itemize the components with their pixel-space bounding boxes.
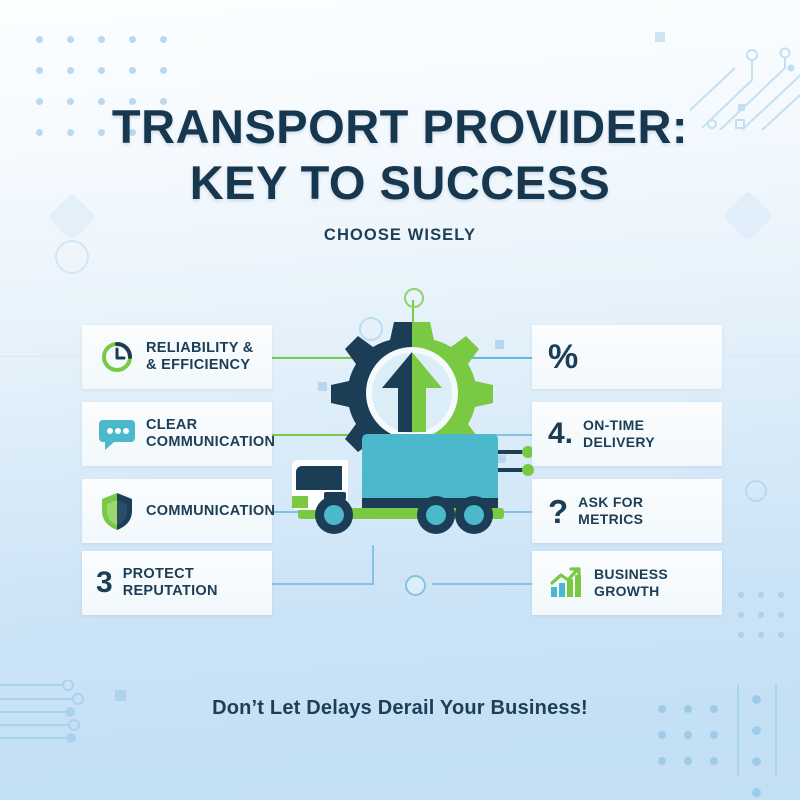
feature-card-on-time-delivery[interactable]: 4. ON-TIME DELIVERY xyxy=(532,402,722,466)
feature-card-ask-for-metrics[interactable]: ? ASK FOR METRICS xyxy=(532,479,722,543)
circle-accent-right xyxy=(745,480,767,502)
feature-card-reliability[interactable]: RELIABILITY & & EFFICIENCY xyxy=(82,325,272,389)
growth-chart-icon xyxy=(548,562,584,604)
square-accent-top-right xyxy=(655,32,665,42)
shield-icon xyxy=(96,490,138,532)
title-line-1: TRANSPORT PROVIDER: xyxy=(112,100,688,153)
feature-card-number: 3 xyxy=(96,568,113,598)
feature-card-business-growth[interactable]: BUSINESS GROWTH xyxy=(532,551,722,615)
feature-card-label: BUSINESS GROWTH xyxy=(594,566,710,600)
feature-card-percent[interactable]: % xyxy=(532,325,722,389)
feature-card-label: PROTECT REPUTATION xyxy=(123,566,262,600)
motion-node-lines xyxy=(498,446,534,476)
footer-tagline: Don’t Let Delays Derail Your Business! xyxy=(0,697,800,720)
feature-card-protect-reputation[interactable]: 3 PROTECT REPUTATION xyxy=(82,551,272,615)
feature-card-clear-communication[interactable]: CLEAR COMMUNICATION xyxy=(82,402,272,466)
chat-bubble-icon xyxy=(96,413,138,455)
feature-card-number: % xyxy=(548,340,578,374)
infographic-poster: TRANSPORT PROVIDER: KEY TO SUCCESS CHOOS… xyxy=(0,0,800,800)
dot-grid-bottom-right-upper xyxy=(738,592,784,638)
feature-card-label: COMMUNICATION xyxy=(146,503,275,520)
circle-accent-left xyxy=(55,240,89,274)
feature-card-label: RELIABILITY & & EFFICIENCY xyxy=(146,340,254,374)
feature-card-number: 4. xyxy=(548,419,573,449)
truck-icon xyxy=(292,434,504,534)
feature-card-label: ASK FOR METRICS xyxy=(578,494,710,528)
feature-card-label: ON-TIME DELIVERY xyxy=(583,417,710,451)
feature-card-label: CLEAR COMMUNICATION xyxy=(146,417,275,451)
title-line-2: KEY TO SUCCESS xyxy=(0,155,800,211)
delivery-truck-with-gear-and-up-arrow xyxy=(276,300,536,585)
page-subtitle: CHOOSE WISELY xyxy=(0,226,800,245)
clock-icon xyxy=(96,336,138,378)
feature-card-communication[interactable]: COMMUNICATION xyxy=(82,479,272,543)
page-title: TRANSPORT PROVIDER: KEY TO SUCCESS xyxy=(0,99,800,211)
feature-card-number: ? xyxy=(548,495,568,528)
